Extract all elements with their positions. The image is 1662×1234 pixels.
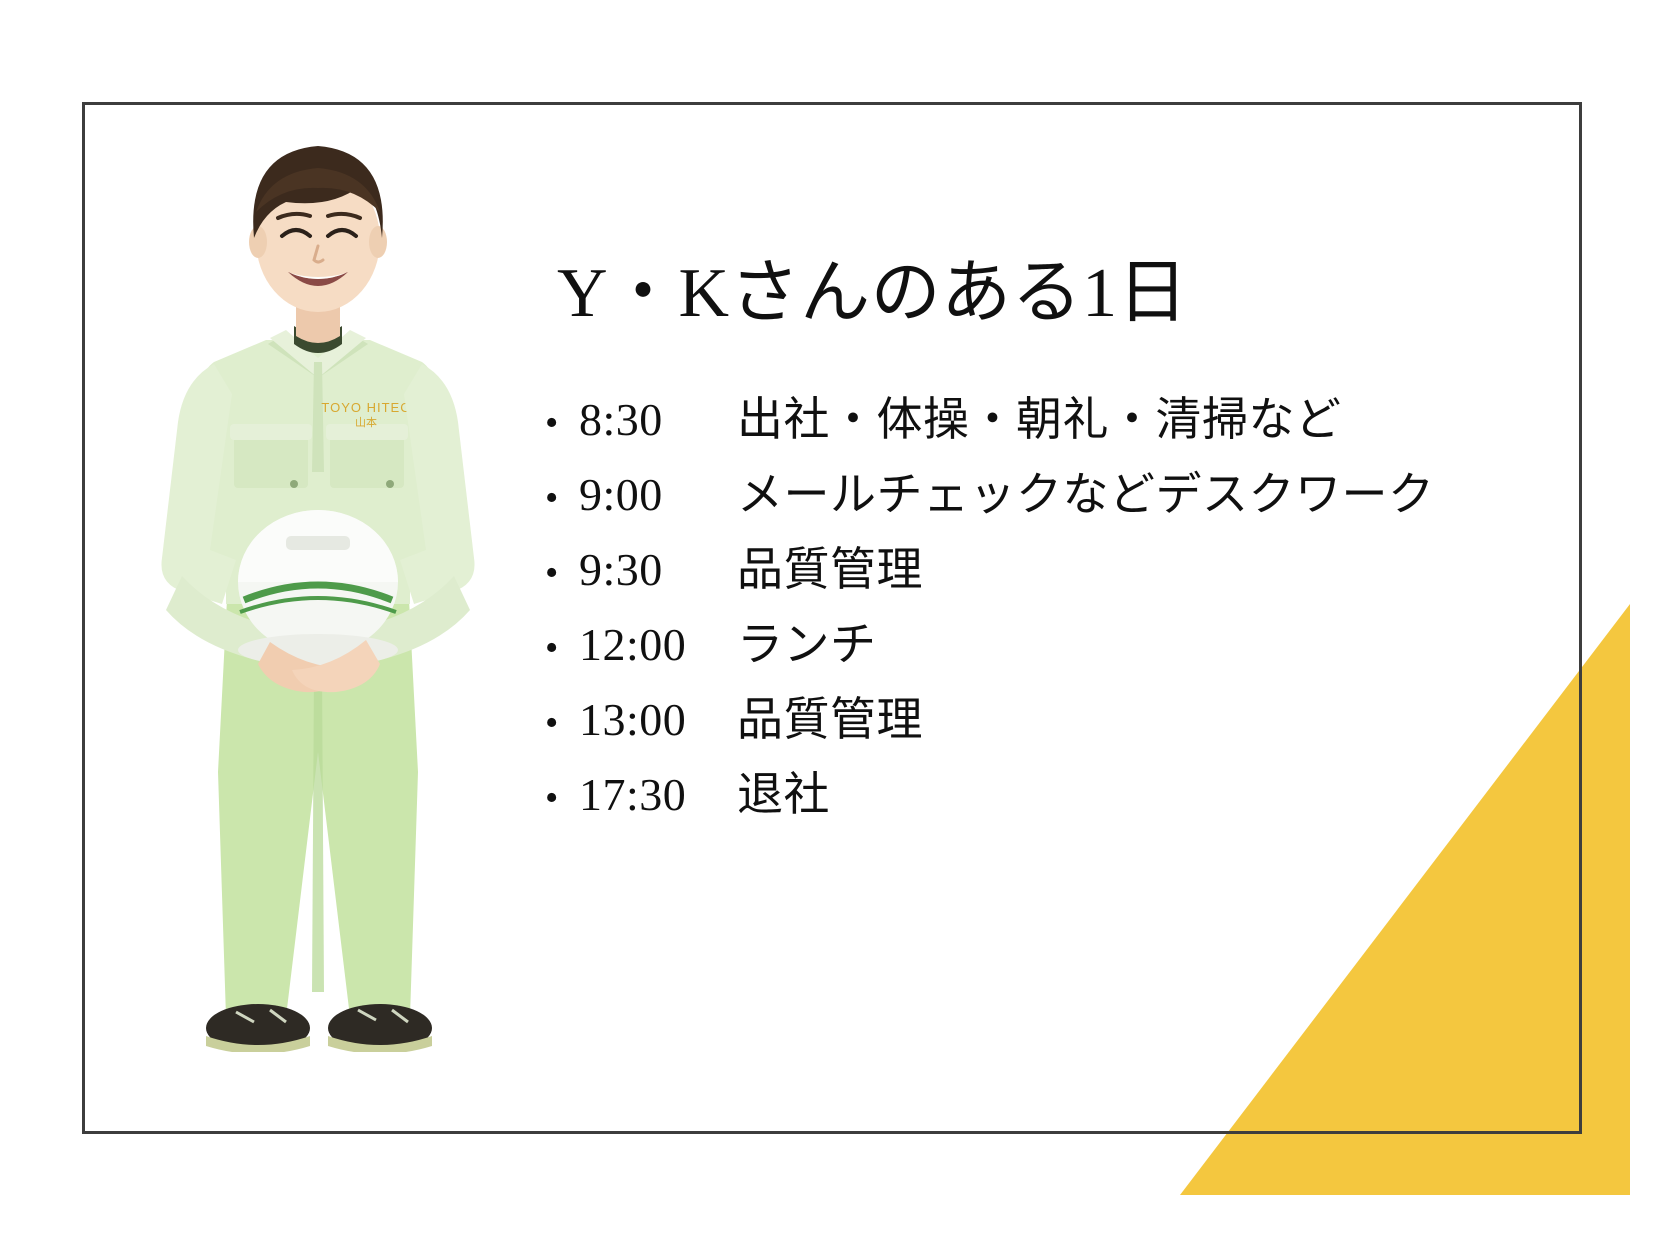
schedule-item: • 8:30 出社・体操・朝礼・清掃など [545, 397, 1555, 443]
schedule-time: 8:30 [579, 397, 737, 443]
bullet-icon: • [545, 779, 579, 817]
schedule-time: 9:30 [579, 547, 737, 593]
schedule-time: 17:30 [579, 772, 737, 818]
schedule-item: • 9:00 メールチェックなどデスクワーク [545, 472, 1555, 518]
bullet-icon: • [545, 704, 579, 742]
employee-figure: TOYO HITEC 山本 [161, 146, 474, 1052]
schedule-item: • 13:00 品質管理 [545, 697, 1555, 743]
schedule-task: メールチェックなどデスクワーク [737, 472, 1435, 518]
bullet-icon: • [545, 479, 579, 517]
employee-photo: TOYO HITEC 山本 [118, 112, 518, 1052]
daily-schedule-list: • 8:30 出社・体操・朝礼・清掃など • 9:00 メールチェックなどデスク… [545, 397, 1555, 818]
schedule-task: 退社 [737, 772, 830, 818]
schedule-item: • 9:30 品質管理 [545, 547, 1555, 593]
schedule-time: 13:00 [579, 697, 737, 743]
slide-canvas: TOYO HITEC 山本 [0, 0, 1662, 1234]
schedule-task: 出社・体操・朝礼・清掃など [737, 397, 1342, 443]
schedule-task: 品質管理 [737, 697, 923, 743]
schedule-time: 12:00 [579, 622, 737, 668]
schedule-item: • 17:30 退社 [545, 772, 1555, 818]
svg-text:TOYO HITEC: TOYO HITEC [321, 400, 410, 415]
svg-text:山本: 山本 [355, 415, 377, 429]
bullet-icon: • [545, 404, 579, 442]
page-title: Y・Kさんのある1日 [557, 255, 1555, 333]
schedule-task: 品質管理 [737, 547, 923, 593]
bullet-icon: • [545, 629, 579, 667]
schedule-task: ランチ [737, 622, 877, 668]
schedule-item: • 12:00 ランチ [545, 622, 1555, 668]
bullet-icon: • [545, 554, 579, 592]
content-column: Y・Kさんのある1日 • 8:30 出社・体操・朝礼・清掃など • 9:00 メ… [545, 255, 1555, 847]
schedule-time: 9:00 [579, 472, 737, 518]
